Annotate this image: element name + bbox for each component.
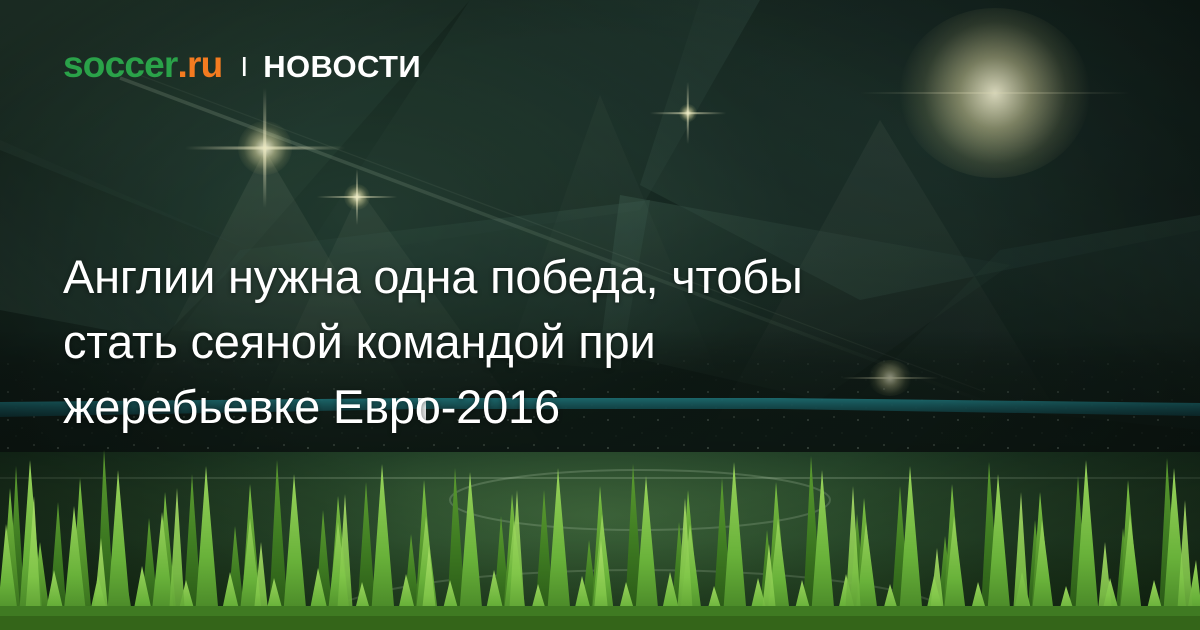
social-card: soccer.ru I НОВОСТИ Англии нужна одна по… — [0, 0, 1200, 630]
headline-line-2: стать сеяной командой при — [63, 309, 1063, 374]
header-section-label[interactable]: НОВОСТИ — [263, 51, 421, 82]
foreground-grass — [0, 430, 1200, 630]
logo-ru-text[interactable]: .ru — [178, 46, 223, 83]
site-header: soccer.ru I НОВОСТИ — [63, 46, 421, 83]
article-headline: Англии нужна одна победа, чтобы стать се… — [63, 244, 1063, 439]
headline-line-1: Англии нужна одна победа, чтобы — [63, 244, 1063, 309]
headline-line-3: жеребьевке Евро-2016 — [63, 374, 1063, 439]
header-separator: I — [240, 53, 248, 81]
logo-soccer-text[interactable]: soccer — [63, 46, 178, 83]
